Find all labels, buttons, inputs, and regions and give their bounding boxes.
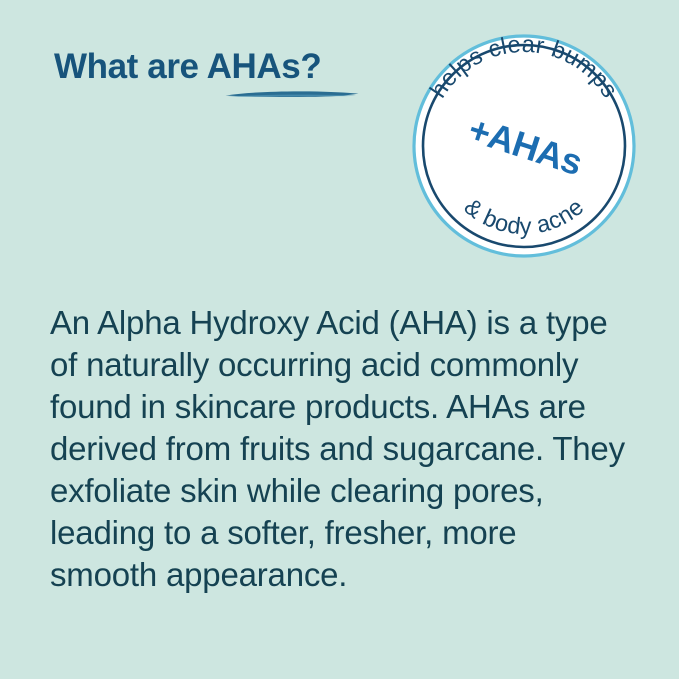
info-card: What are AHAs? helps clear bumps [0,0,679,679]
aha-seal-badge: helps clear bumps & body acne +AHAs [410,32,638,260]
page-title: What are AHAs? [54,48,394,87]
body-paragraph: An Alpha Hydroxy Acid (AHA) is a type of… [50,302,630,596]
heading-block: What are AHAs? [54,48,394,87]
heading-underline-stroke [224,88,360,100]
